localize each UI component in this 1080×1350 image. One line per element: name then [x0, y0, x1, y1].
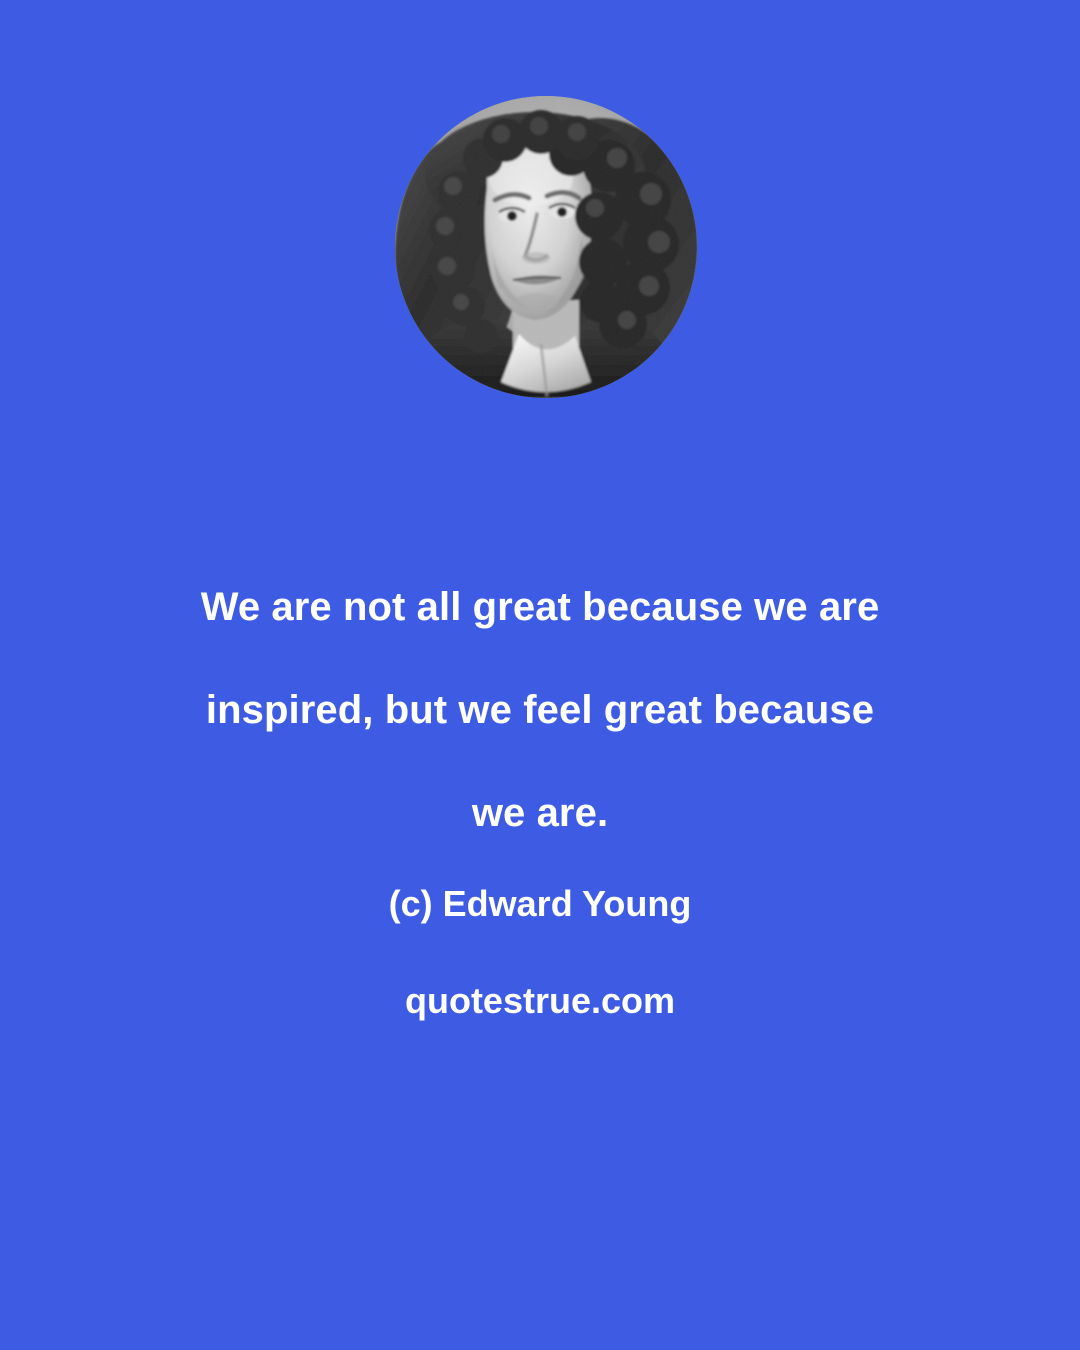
quote-text: We are not all great because we are insp…: [100, 556, 980, 865]
source-website[interactable]: quotestrue.com: [90, 977, 990, 1025]
portrait-circle-mask: [395, 96, 697, 398]
author-portrait: [395, 96, 697, 398]
quote-card: We are not all great because we are insp…: [0, 0, 1080, 1350]
quote-line: we are.: [100, 762, 980, 865]
quote-attribution: (c) Edward Young: [90, 880, 990, 928]
author-portrait-circle-icon: [395, 96, 697, 398]
quote-line: We are not all great because we are: [100, 556, 980, 659]
quote-line: inspired, but we feel great because: [100, 659, 980, 762]
